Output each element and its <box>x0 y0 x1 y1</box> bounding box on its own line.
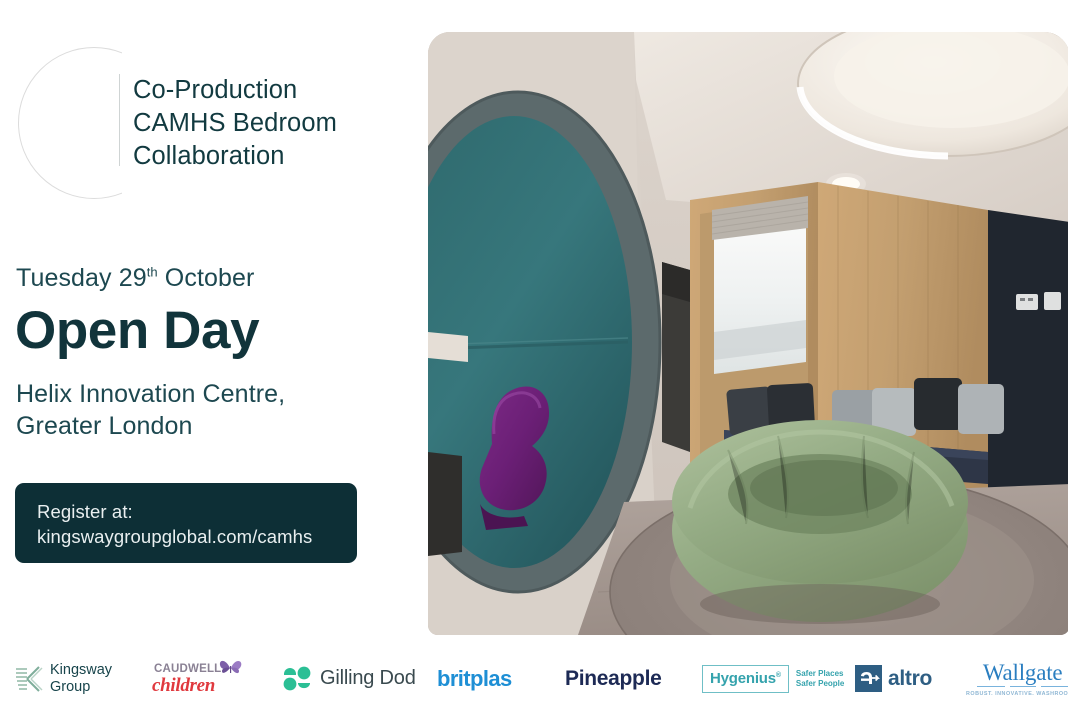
register-label: Register at: <box>37 499 335 524</box>
register-url[interactable]: kingswaygroupglobal.com/camhs <box>37 524 335 549</box>
registered-mark-icon: ® <box>776 672 781 679</box>
gilling-dod-dots-mark-icon <box>283 665 313 693</box>
altro-label: altro <box>888 667 932 691</box>
wallgate-label: Wallgate <box>983 661 1063 685</box>
partner-logo-altro[interactable]: altro <box>855 645 932 712</box>
pineapple-label: Pineapple <box>565 667 662 691</box>
gilling-dod-label: Gilling Dod <box>320 667 416 690</box>
event-date-ordinal: th <box>147 265 158 280</box>
partner-logo-kingsway-group[interactable]: Kingsway Group <box>14 645 112 712</box>
event-date-suffix: October <box>158 264 255 292</box>
event-venue: Helix Innovation Centre, Greater London <box>16 378 285 442</box>
event-date: Tuesday 29th October <box>16 263 254 293</box>
caudwell-wordmark: CAUDWELL <box>154 663 221 675</box>
page-title-line-1: Co-Production <box>133 74 433 107</box>
britplas-label: britplas <box>437 666 512 692</box>
partner-logo-gilling-dod[interactable]: Gilling Dod <box>283 645 416 712</box>
kingsway-k-mark-icon <box>14 664 44 694</box>
event-date-prefix: Tuesday 29 <box>16 264 147 292</box>
event-venue-line-1: Helix Innovation Centre, <box>16 378 285 410</box>
partner-logo-britplas[interactable]: britplas <box>437 645 512 712</box>
heading-divider <box>119 74 120 166</box>
page-title: Co-Production CAMHS Bedroom Collaboratio… <box>133 74 433 173</box>
altro-a-square-mark-icon <box>855 665 882 692</box>
butterfly-icon <box>218 657 244 677</box>
hygenius-tagline-line-2: Safer People <box>796 679 844 689</box>
kingsway-line-1: Kingsway <box>50 662 112 679</box>
page-title-line-2: CAMHS Bedroom <box>133 107 433 140</box>
children-wordmark: children <box>152 675 215 697</box>
hygenius-wordmark: Hygenius <box>710 670 776 687</box>
interior-photo <box>428 32 1068 635</box>
partner-logo-caudwell-children[interactable]: CAUDWELL children <box>150 645 246 712</box>
partner-logo-wallgate[interactable]: Wallgate ROBUST. INNOVATIVE. WASHROOMS. <box>966 645 1068 712</box>
page-title-line-3: Collaboration <box>133 140 433 173</box>
register-cta[interactable]: Register at: kingswaygroupglobal.com/cam… <box>15 483 357 563</box>
hygenius-tagline: Safer Places Safer People <box>796 669 844 689</box>
hygenius-label: Hygenius® <box>702 665 789 693</box>
partner-logo-strip: Kingsway Group CAUDWELL children <box>0 645 1068 712</box>
kingsway-line-2: Group <box>50 679 112 696</box>
event-title: Open Day <box>15 302 259 360</box>
hygenius-tagline-line-1: Safer Places <box>796 669 844 679</box>
event-venue-line-2: Greater London <box>16 410 285 442</box>
wallgate-rules-decoration <box>977 686 1068 689</box>
interior-photo-graphic <box>428 32 1068 635</box>
poster-canvas: Co-Production CAMHS Bedroom Collaboratio… <box>0 0 1068 712</box>
wallgate-tagline: ROBUST. INNOVATIVE. WASHROOMS. <box>966 691 1068 697</box>
partner-logo-hygenius[interactable]: Hygenius® Safer Places Safer People <box>702 645 844 712</box>
partner-logo-pineapple[interactable]: Pineapple <box>565 645 662 712</box>
kingsway-group-label: Kingsway Group <box>50 662 112 695</box>
